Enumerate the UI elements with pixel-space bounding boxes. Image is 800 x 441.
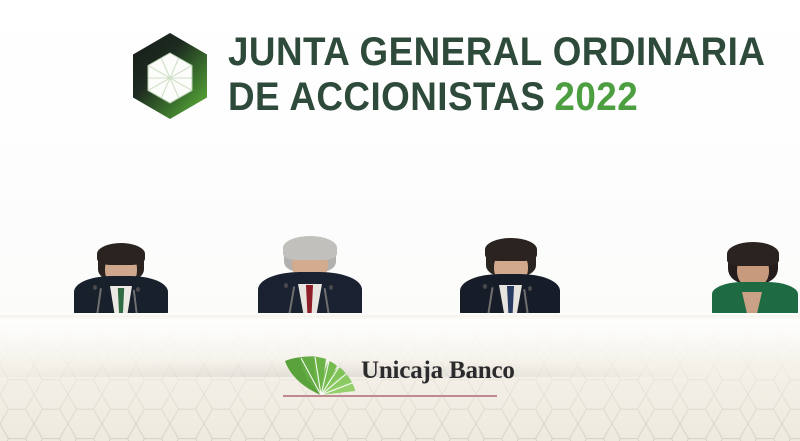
- member-1-hair-top: [97, 243, 145, 265]
- member-1-microphone-head: [93, 285, 97, 290]
- event-title-line-2: DE ACCIONISTAS2022: [228, 74, 765, 120]
- member-2-microphone-head: [284, 283, 288, 288]
- event-title-year: 2022: [554, 75, 638, 119]
- member-2-hair-top: [283, 236, 337, 260]
- hexagon-lattice-logo: [128, 30, 212, 122]
- conference-table: Unicaja Banco: [0, 313, 800, 441]
- broadcast-frame: JUNTA GENERAL ORDINARIA DE ACCIONISTAS20…: [0, 0, 800, 441]
- panel-member-2: [252, 228, 368, 316]
- unicaja-fan-icon: [281, 353, 359, 395]
- unicaja-banco-underline: [283, 395, 497, 397]
- event-title-line-2-text: DE ACCIONISTAS: [228, 75, 545, 119]
- member-3-hair-top: [485, 238, 537, 261]
- panel-member-3: [452, 228, 568, 316]
- member-3-microphone-head: [483, 284, 487, 289]
- panel-members: [0, 228, 800, 316]
- event-title-line-1: JUNTA GENERAL ORDINARIA: [228, 30, 765, 74]
- member-3-microphone-2-head: [528, 286, 532, 291]
- member-2-microphone-2-head: [329, 285, 333, 290]
- member-4-hair-top: [727, 242, 779, 266]
- event-title-block: JUNTA GENERAL ORDINARIA DE ACCIONISTAS20…: [128, 26, 748, 131]
- unicaja-banco-logo: Unicaja Banco: [281, 353, 499, 401]
- panel-member-4: [706, 228, 800, 316]
- event-title-text: JUNTA GENERAL ORDINARIA DE ACCIONISTAS20…: [228, 26, 800, 120]
- unicaja-banco-wordmark: Unicaja Banco: [361, 357, 515, 385]
- panel-member-1: [62, 228, 178, 316]
- table-top-edge: [0, 313, 800, 317]
- member-1-microphone-2-head: [136, 287, 140, 292]
